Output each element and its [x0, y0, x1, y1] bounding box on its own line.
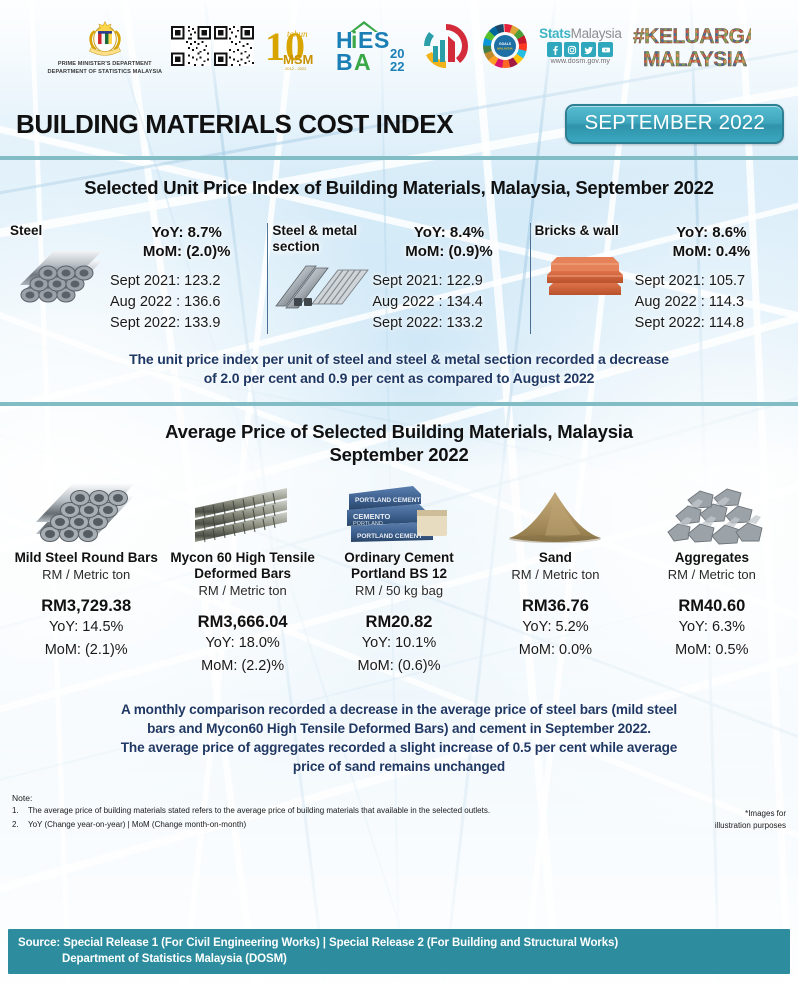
steel-metal-text-block: YoY: 8.4% MoM: (0.9)% Sept 2021: 122.9 A… [372, 223, 525, 334]
logo-hies-ba-2022: H i E S B A 20 22 [334, 18, 412, 74]
youtube-icon[interactable] [598, 42, 613, 57]
material-image [187, 474, 299, 546]
footnotes-block: Note: 1. The average price of building m… [0, 792, 798, 832]
material-card-mycon-60-deformed-bars: Mycon 60 High Tensile Deformed Bars RM /… [164, 474, 320, 678]
index-row: Sept 2021: 122.9 [372, 271, 525, 292]
stats-malaysia-wordmark: StatsMalaysia [539, 27, 621, 41]
images-disclaimer: *Images for illustration purposes [680, 792, 786, 832]
material-unit: RM / 50 kg bag [355, 582, 443, 599]
material-price: RM3,666.04 [198, 612, 288, 632]
steel-pipes-icon [10, 239, 110, 311]
commentary-line: A monthly comparison recorded a decrease… [44, 700, 754, 719]
index-row: Sept 2021: 123.2 [110, 271, 263, 292]
logo-stats-malaysia: StatsMalaysia www.dosm.gov.my [539, 27, 621, 65]
logo-keluarga-malaysia: #KELUARGA MALAYSIA [631, 21, 751, 71]
round-bars-icon [30, 476, 142, 546]
material-yoy: YoY: 18.0% [205, 632, 279, 655]
steel-metal-section-icon [272, 254, 372, 316]
index-row: Sept 2022: 133.9 [110, 313, 263, 334]
deformed-bars-icon [187, 476, 299, 546]
material-name: Mycon 60 High Tensile Deformed Bars [166, 550, 318, 582]
material-unit: RM / Metric ton [42, 566, 130, 583]
section1-grid: Steel [0, 223, 798, 334]
sand-pile-icon [501, 476, 609, 546]
images-disclaimer-line2: illustration purposes [680, 820, 786, 832]
material-yoy: YoY: 6.3% [679, 616, 745, 639]
material-mom: MoM: (2.2)% [201, 655, 284, 678]
svg-text:CEMENTO: CEMENTO [353, 512, 391, 521]
svg-text:PORTLAND CEMENT: PORTLAND CEMENT [355, 497, 420, 504]
mom-value: MoM: (0.9)% [372, 242, 525, 261]
index-column-bricks-wall: Bricks & wall YoY: 8.6% MoM: 0.4% [530, 223, 792, 334]
yoy-value: YoY: 8.4% [372, 223, 525, 242]
commentary-line: The average price of aggregates recorded… [44, 738, 754, 757]
note-number: 1. [12, 804, 28, 818]
material-image [30, 474, 142, 546]
index-row: Aug 2022 : 136.6 [110, 292, 263, 313]
material-mom: MoM: (0.6)% [358, 655, 441, 678]
material-image [501, 474, 609, 546]
dosm-website-url[interactable]: www.dosm.gov.my [551, 58, 610, 65]
commentary-line: of 2.0 per cent and 0.9 per cent as comp… [36, 369, 762, 388]
keluarga-malaysia-icon: #KELUARGA MALAYSIA [631, 21, 751, 71]
infographic-page: PRIME MINISTER'S DEPARTMENT DEPARTMENT O… [0, 0, 798, 983]
note-number: 2. [12, 818, 28, 832]
mom-value: MoM: 0.4% [635, 242, 788, 261]
svg-text:S: S [374, 27, 389, 53]
index-rows: Sept 2021: 122.9 Aug 2022 : 134.4 Sept 2… [372, 271, 525, 334]
index-row: Aug 2022 : 114.3 [635, 292, 788, 313]
commentary-line: price of sand remains unchanged [44, 757, 754, 776]
section2-heading-line1: Average Price of Selected Building Mater… [0, 420, 798, 443]
census-malaysia-icon [421, 20, 471, 72]
index-column-steel-metal-section: Steel & metal section [267, 223, 529, 334]
material-mom: MoM: 0.0% [519, 639, 592, 662]
yoy-value: YoY: 8.6% [635, 223, 788, 242]
note-row-1: 1. The average price of building materia… [12, 804, 680, 818]
section1-commentary: The unit price index per unit of steel a… [0, 350, 798, 388]
material-name: Aggregates [675, 550, 749, 566]
material-name: Mild Steel Round Bars [15, 550, 158, 566]
material-yoy: YoY: 10.1% [362, 632, 436, 655]
bricks-text-block: YoY: 8.6% MoM: 0.4% Sept 2021: 105.7 Aug… [635, 223, 788, 334]
index-row: Sept 2022: 133.2 [372, 313, 525, 334]
footnotes-left: Note: 1. The average price of building m… [12, 792, 680, 832]
material-label: Bricks & wall [535, 223, 635, 239]
crest-caption-line2: DEPARTMENT OF STATISTICS MALAYSIA [47, 69, 162, 76]
qr-code-group [171, 26, 254, 66]
mom-value: MoM: (2.0)% [110, 242, 263, 261]
section2-heading-line2: September 2022 [0, 443, 798, 466]
sdg-wheel-icon: GOALS MALAYSIA [480, 21, 530, 71]
note-text: YoY (Change year-on-year) | MoM (Change … [28, 818, 246, 832]
material-label: Steel [10, 223, 110, 239]
instagram-icon[interactable] [564, 42, 579, 57]
material-mom: MoM: 0.5% [675, 639, 748, 662]
stats-light-text: Malaysia [571, 26, 622, 41]
index-rows: Sept 2021: 123.2 Aug 2022 : 136.6 Sept 2… [110, 271, 263, 334]
material-card-aggregates: Aggregates RM / Metric ton RM40.60 YoY: … [634, 474, 790, 662]
note-row-2: 2. YoY (Change year-on-year) | MoM (Chan… [12, 818, 680, 832]
logo-banci-penduduk [421, 20, 471, 72]
svg-text:2012 - 2022: 2012 - 2022 [285, 66, 307, 71]
material-price: RM36.76 [522, 596, 589, 616]
steel-text-block: YoY: 8.7% MoM: (2.0)% Sept 2021: 123.2 A… [110, 223, 263, 334]
commentary-line: The unit price index per unit of steel a… [36, 350, 762, 369]
section2-grid: Mild Steel Round Bars RM / Metric ton RM… [0, 474, 798, 678]
svg-text:B: B [336, 49, 353, 74]
qr-code-icon-2 [214, 26, 254, 66]
material-card-ordinary-cement: PORTLAND CEMENT CEMENTO PORTLAND PORTLAN… [321, 474, 477, 678]
ten-year-anniversary-icon: 10 tahun MSM 2012 - 2022 [263, 20, 325, 72]
index-row: Sept 2022: 114.8 [635, 313, 788, 334]
material-card-mild-steel-round-bars: Mild Steel Round Bars RM / Metric ton RM… [8, 474, 164, 662]
material-name: Ordinary Cement Portland BS 12 [323, 550, 475, 582]
stats-bold-text: Stats [539, 26, 571, 41]
index-row: Aug 2022 : 134.4 [372, 292, 525, 313]
bricks-image-block: Bricks & wall [535, 223, 635, 334]
index-row: Sept 2021: 105.7 [635, 271, 788, 292]
material-name: Sand [539, 550, 572, 566]
logo-10-tahun-msm: 10 tahun MSM 2012 - 2022 [263, 20, 325, 72]
yoy-value: YoY: 8.7% [110, 223, 263, 242]
logo-prime-minister-department: PRIME MINISTER'S DEPARTMENT DEPARTMENT O… [47, 16, 162, 76]
hies-ba-2022-icon: H i E S B A 20 22 [334, 18, 412, 74]
svg-text:MSM: MSM [283, 52, 313, 67]
note-text: The average price of building materials … [28, 804, 490, 818]
material-price: RM20.82 [366, 612, 433, 632]
malaysia-crest-icon [79, 16, 131, 60]
material-unit: RM / Metric ton [199, 582, 287, 599]
index-column-steel: Steel [6, 223, 267, 334]
section2-heading: Average Price of Selected Building Mater… [0, 406, 798, 466]
cement-bags-icon: PORTLAND CEMENT CEMENTO PORTLAND PORTLAN… [343, 476, 455, 546]
social-icon-row [547, 42, 613, 57]
index-rows: Sept 2021: 105.7 Aug 2022 : 114.3 Sept 2… [635, 271, 788, 334]
material-price: RM3,729.38 [41, 596, 131, 616]
source-bar: Source: Special Release 1 (For Civil Eng… [8, 929, 790, 974]
twitter-icon[interactable] [581, 42, 596, 57]
commentary-line: bars and Mycon60 High Tensile Deformed B… [44, 719, 754, 738]
section1-heading: Selected Unit Price Index of Building Ma… [0, 160, 798, 199]
bricks-icon [535, 239, 635, 301]
page-title: BUILDING MATERIALS COST INDEX [16, 110, 453, 138]
material-image: PORTLAND CEMENT CEMENTO PORTLAND PORTLAN… [343, 474, 455, 546]
facebook-icon[interactable] [547, 42, 562, 57]
images-disclaimer-line1: *Images for [680, 808, 786, 820]
month-badge: SEPTEMBER 2022 [565, 104, 784, 144]
svg-text:MALAYSIA: MALAYSIA [643, 48, 747, 71]
svg-text:MALAYSIA: MALAYSIA [497, 47, 513, 51]
material-image [658, 474, 766, 546]
crest-caption-line1: PRIME MINISTER'S DEPARTMENT [58, 61, 152, 68]
logo-sdg-malaysia: GOALS MALAYSIA [480, 21, 530, 71]
material-price: RM40.60 [678, 596, 745, 616]
material-label: Steel & metal section [272, 223, 372, 254]
steel-metal-image-block: Steel & metal section [272, 223, 372, 334]
source-line-1: Source: Special Release 1 (For Civil Eng… [18, 935, 780, 951]
note-title: Note: [12, 792, 680, 804]
steel-image-block: Steel [10, 223, 110, 334]
svg-text:PORTLAND: PORTLAND [353, 521, 383, 527]
svg-text:tahun: tahun [287, 29, 308, 39]
svg-text:GOALS: GOALS [499, 42, 512, 46]
material-yoy: YoY: 14.5% [49, 616, 123, 639]
header-logo-bar: PRIME MINISTER'S DEPARTMENT DEPARTMENT O… [0, 0, 798, 92]
svg-text:#KELUARGA: #KELUARGA [633, 25, 751, 48]
svg-text:PORTLAND CEMENT: PORTLAND CEMENT [357, 533, 422, 540]
source-line-2: Department of Statistics Malaysia (DOSM) [18, 951, 780, 967]
material-yoy: YoY: 5.2% [522, 616, 588, 639]
material-unit: RM / Metric ton [668, 566, 756, 583]
svg-text:A: A [354, 49, 371, 74]
qr-code-icon-1 [171, 26, 211, 66]
svg-text:22: 22 [390, 59, 404, 74]
material-card-sand: Sand RM / Metric ton RM36.76 YoY: 5.2% M… [477, 474, 633, 662]
material-unit: RM / Metric ton [511, 566, 599, 583]
material-mom: MoM: (2.1)% [45, 639, 128, 662]
title-band: BUILDING MATERIALS COST INDEX SEPTEMBER … [0, 92, 798, 156]
aggregates-icon [658, 476, 766, 546]
section2-commentary: A monthly comparison recorded a decrease… [0, 700, 798, 776]
